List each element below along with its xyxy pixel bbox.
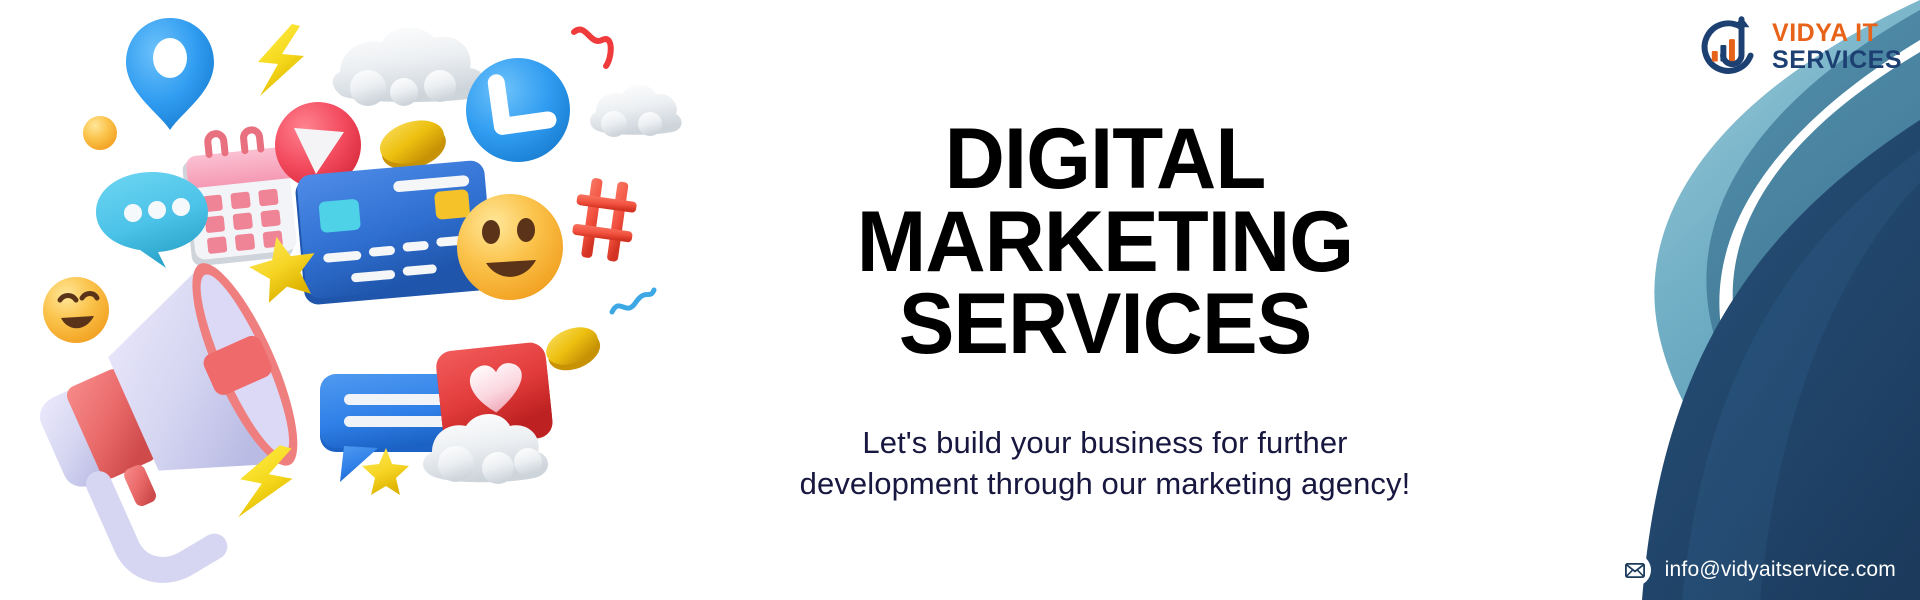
- bar-chart-arrow-circle-icon: [1694, 14, 1760, 80]
- smiley-face-icon: [457, 194, 563, 300]
- wave-navy: [1642, 120, 1920, 600]
- page-title: DIGITAL MARKETING SERVICES: [717, 118, 1493, 366]
- smiling-eyes-face-icon: [43, 277, 109, 343]
- location-pin-icon: [126, 18, 214, 130]
- cloud-icon: [333, 27, 487, 106]
- hero-copy: DIGITAL MARKETING SERVICES Let's build y…: [705, 118, 1505, 505]
- wave-navy-band: [1682, 150, 1920, 600]
- red-squiggle-icon: [574, 30, 611, 66]
- brand-logo[interactable]: VIDYA IT SERVICES: [1694, 14, 1902, 80]
- brand-logo-text: VIDYA IT SERVICES: [1772, 21, 1902, 73]
- headline-line-2: SERVICES: [717, 283, 1493, 366]
- brand-logo-line2: SERVICES: [1772, 48, 1902, 73]
- wave-light-teal: [1654, 0, 1920, 600]
- chat-bubble-dots-icon: [96, 172, 208, 268]
- cloud-small-icon: [590, 85, 682, 137]
- email-address[interactable]: info@vidyaitservice.com: [1665, 558, 1896, 582]
- brand-logo-line1: VIDYA IT: [1772, 21, 1902, 46]
- headline-line-1: DIGITAL MARKETING: [857, 111, 1353, 290]
- coin-icon-2: [541, 320, 606, 377]
- blue-squiggle-icon: [612, 290, 654, 312]
- contact-email[interactable]: info@vidyaitservice.com: [1619, 554, 1896, 586]
- marketing-banner: VIDYA IT SERVICES DIGITAL MARKETING SERV…: [0, 0, 1920, 600]
- checkmark-circle-icon: [466, 58, 570, 162]
- subtitle-line-1: Let's build your business for further: [862, 425, 1347, 460]
- hero-subtitle: Let's build your business for further de…: [705, 422, 1505, 506]
- lightning-bolt-icon: [258, 24, 304, 96]
- envelope-icon: [1619, 554, 1651, 586]
- subtitle-line-2: development through our marketing agency…: [705, 463, 1505, 505]
- hashtag-icon: [569, 176, 640, 264]
- digital-marketing-illustration: [0, 0, 720, 600]
- yellow-sphere-icon: [83, 116, 117, 150]
- wave-white-gap: [1719, 40, 1920, 600]
- wave-steel-blue: [1706, 10, 1920, 600]
